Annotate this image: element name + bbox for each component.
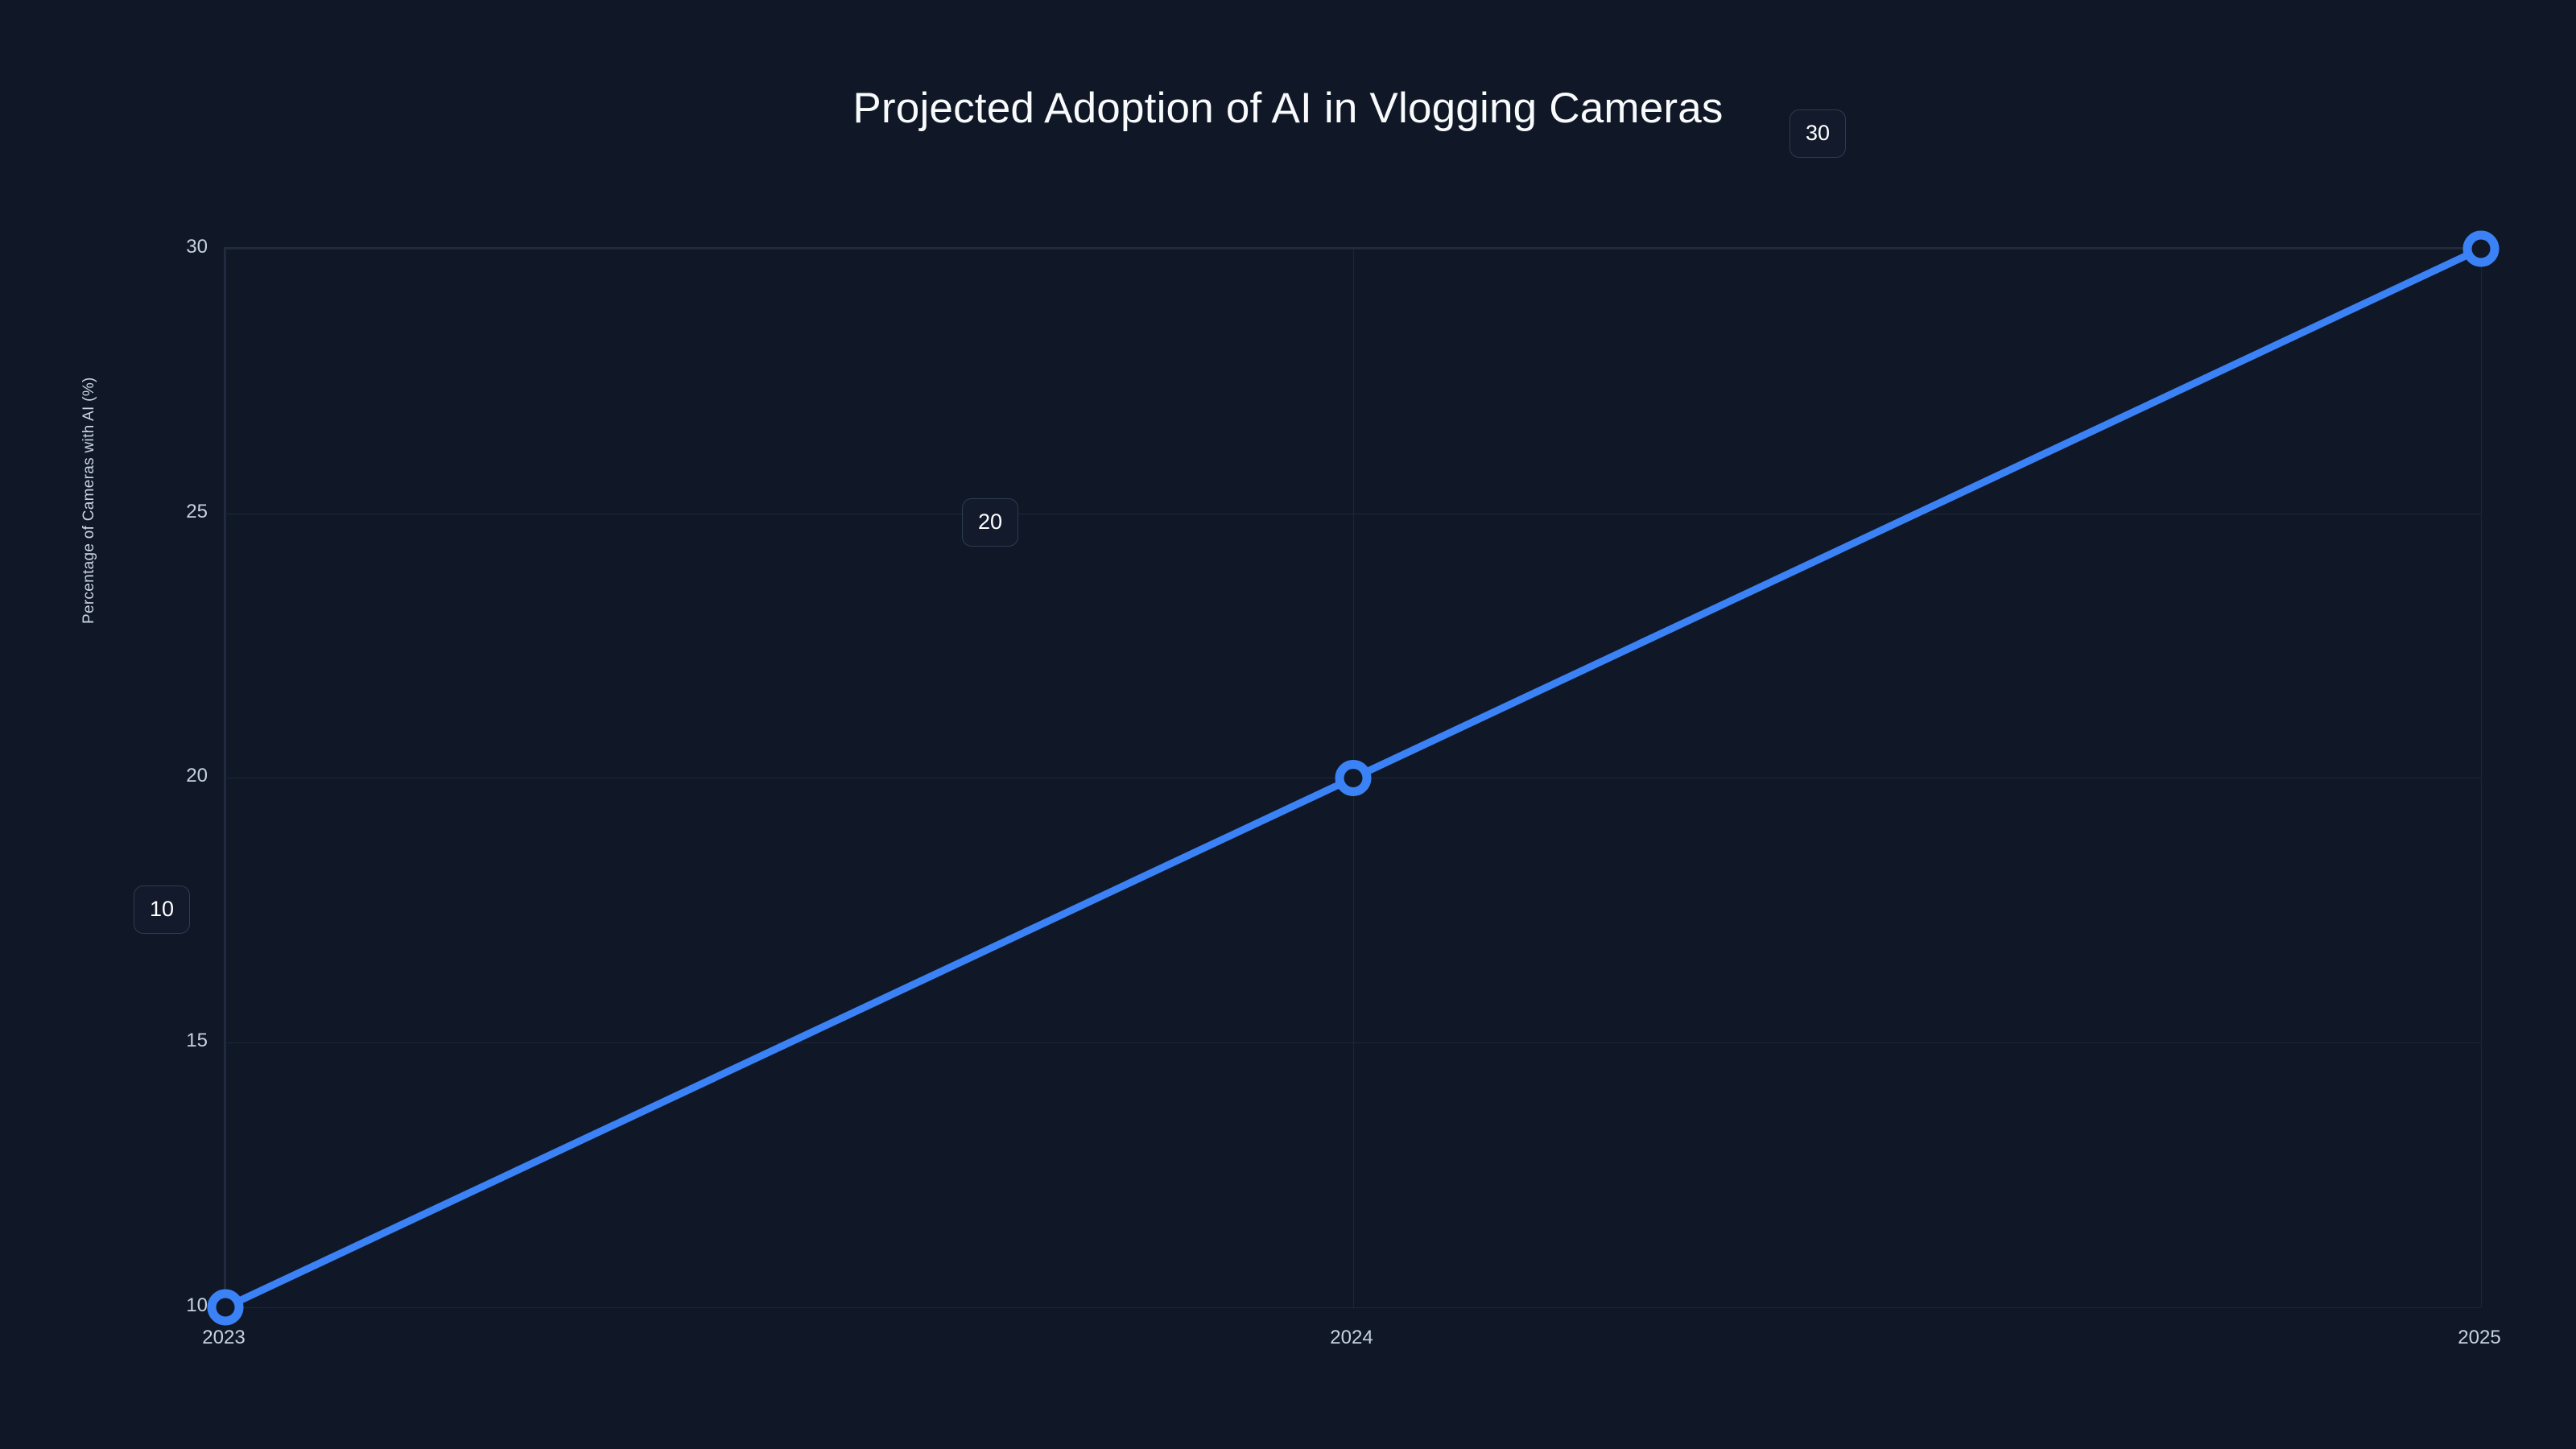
y-tick-label: 25 (113, 501, 208, 523)
y-tick-label: 30 (113, 236, 208, 258)
x-tick-label: 2023 (127, 1327, 320, 1349)
series-markers (212, 235, 2495, 1321)
y-tick-label: 20 (113, 765, 208, 787)
data-point-marker[interactable] (1340, 765, 1367, 792)
data-label-badge: 10 (134, 885, 190, 934)
y-tick-label: 15 (113, 1030, 208, 1052)
chart-title: Projected Adoption of AI in Vlogging Cam… (0, 87, 2576, 130)
series-svg (225, 249, 2481, 1307)
data-label-badge: 20 (962, 498, 1018, 547)
chart-canvas: Projected Adoption of AI in Vlogging Cam… (0, 0, 2576, 1449)
x-tick-label: 2024 (1255, 1327, 1448, 1349)
data-point-marker[interactable] (212, 1294, 239, 1321)
gridline-vertical (2481, 249, 2482, 1307)
plot-area (224, 247, 2481, 1307)
data-point-marker[interactable] (2467, 235, 2495, 262)
x-tick-label: 2025 (2383, 1327, 2576, 1349)
gridline-horizontal (225, 1307, 2481, 1308)
y-tick-label: 10 (113, 1294, 208, 1317)
data-label-badge: 30 (1790, 109, 1846, 158)
y-axis-title: Percentage of Cameras with AI (%) (80, 254, 98, 624)
